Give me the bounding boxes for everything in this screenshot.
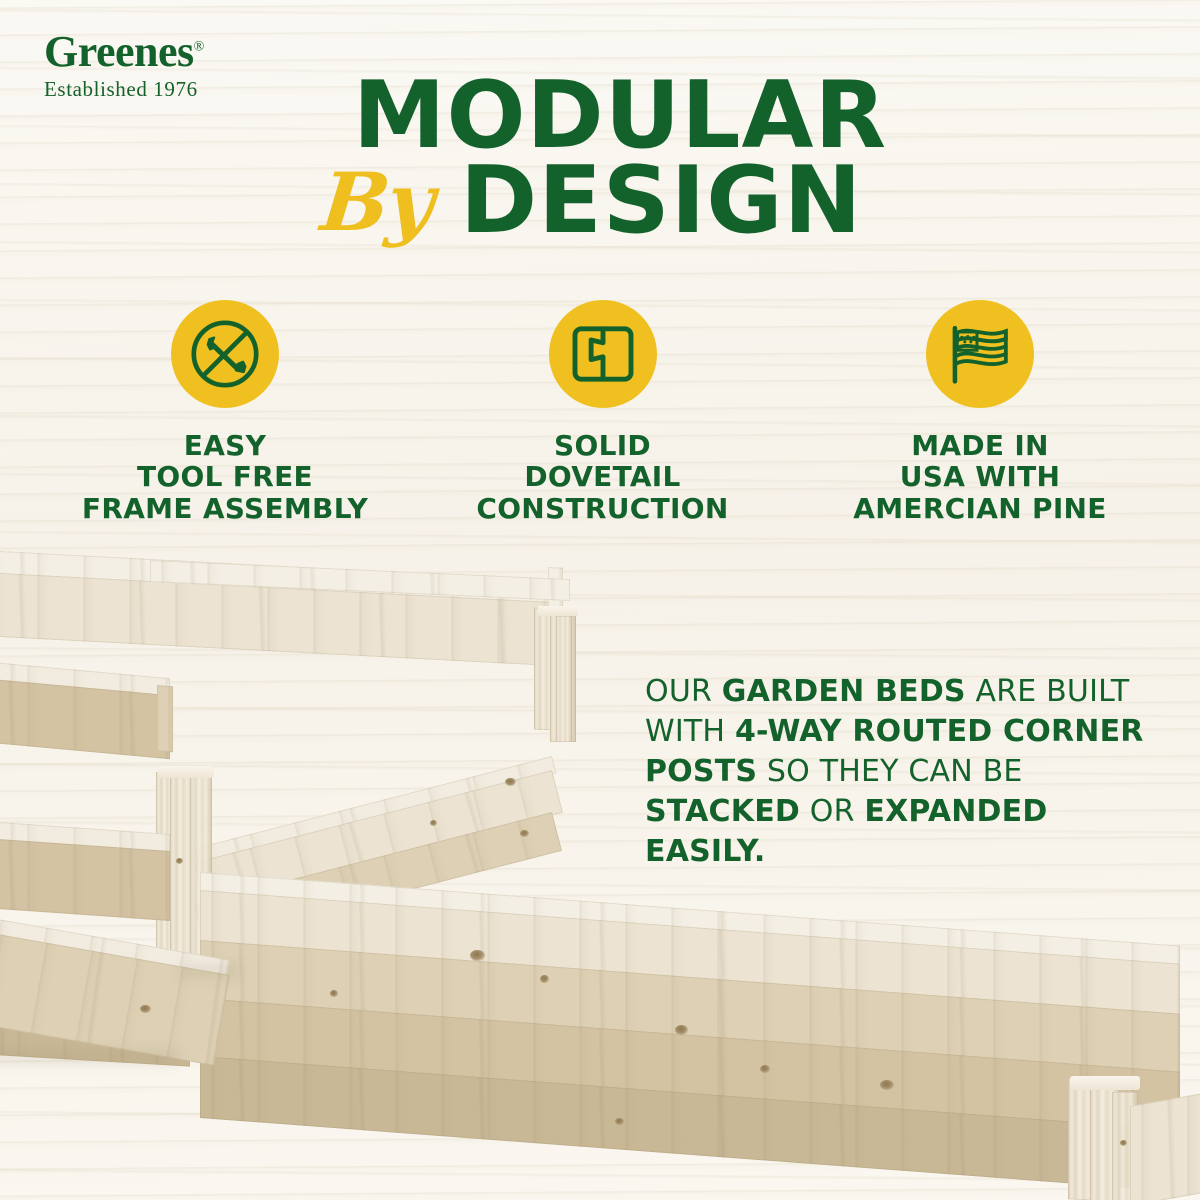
- feature-item-made-in-usa: MADE IN USA WITH AMERCIAN PINE: [815, 300, 1145, 524]
- brand-tagline: Established 1976: [44, 79, 344, 100]
- brand-name-text: Greenes: [44, 27, 194, 76]
- no-tools-icon: [186, 315, 264, 393]
- feature-label: EASY TOOL FREE FRAME ASSEMBLY: [82, 430, 368, 524]
- feature-badge: [171, 300, 279, 408]
- infographic-canvas: Greenes® Established 1976 MODULAR By DES…: [0, 0, 1200, 1200]
- feature-label: MADE IN USA WITH AMERCIAN PINE: [853, 430, 1106, 524]
- headline-script-by: By: [318, 162, 437, 242]
- registered-trademark-icon: ®: [194, 39, 204, 54]
- feature-list: EASY TOOL FREE FRAME ASSEMBLY SOLID DOVE…: [60, 300, 1145, 524]
- feature-item-tool-free: EASY TOOL FREE FRAME ASSEMBLY: [60, 300, 390, 524]
- headline-line-design: DESIGN: [460, 154, 862, 247]
- headline-line-design-row: By DESIGN: [300, 154, 940, 258]
- feature-badge: [926, 300, 1034, 408]
- brand-name: Greenes®: [44, 30, 344, 74]
- feature-badge: [549, 300, 657, 408]
- brand-logo: Greenes® Established 1976: [44, 30, 344, 100]
- feature-label: SOLID DOVETAIL CONSTRUCTION: [476, 430, 728, 524]
- usa-flag-icon: [942, 316, 1018, 392]
- feature-item-dovetail: SOLID DOVETAIL CONSTRUCTION: [438, 300, 768, 524]
- body-copy: OUR GARDEN BEDS ARE BUILT WITH 4-WAY ROU…: [645, 672, 1145, 871]
- dovetail-joint-icon: [568, 319, 638, 389]
- headline: MODULAR By DESIGN: [300, 72, 940, 258]
